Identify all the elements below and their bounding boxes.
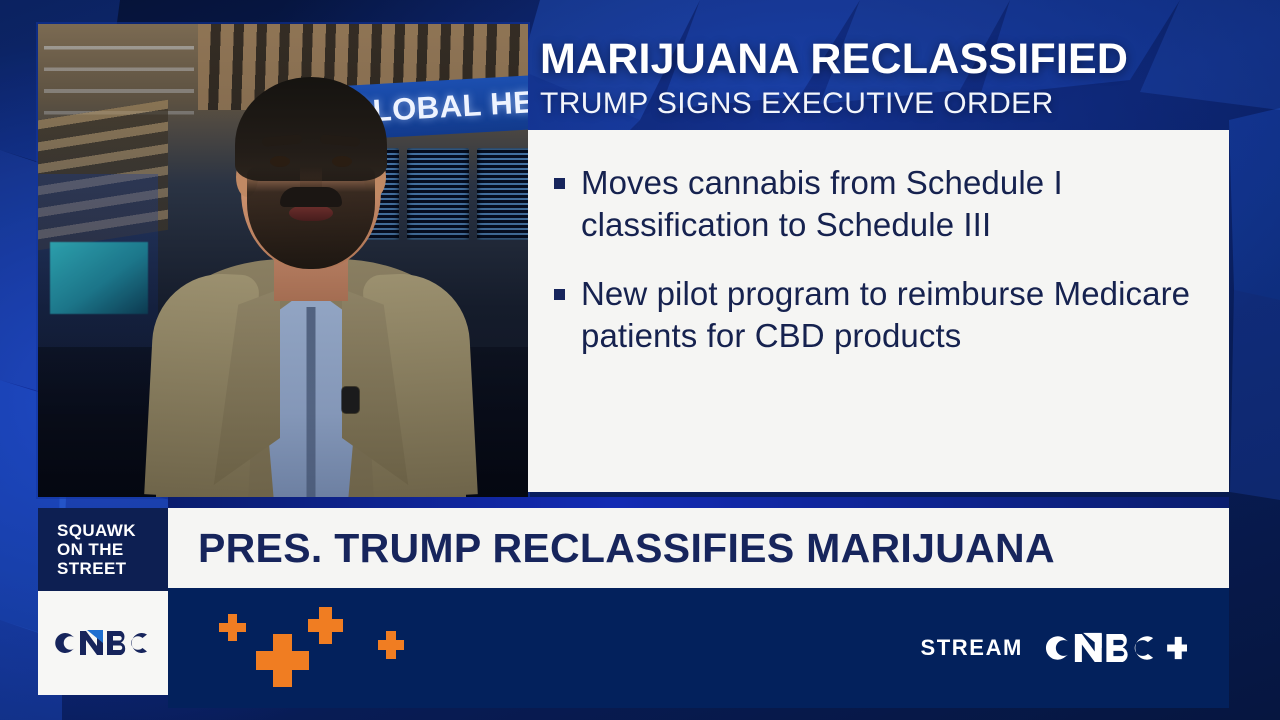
plus-icon-tiny xyxy=(219,614,246,641)
show-title-line-3: STREET xyxy=(57,559,168,578)
show-title-tag: SQUAWK ON THE STREET xyxy=(38,508,168,591)
show-title-line-2: ON THE xyxy=(57,540,168,559)
monitor-screen xyxy=(477,148,528,240)
list-item: Moves cannabis from Schedule I classific… xyxy=(554,162,1195,245)
reporter-mouth xyxy=(289,205,333,221)
plus-sign-icon xyxy=(1167,637,1187,659)
shirt-placket xyxy=(307,307,316,497)
headline-secondary: TRUMP SIGNS EXECUTIVE ORDER xyxy=(540,87,1240,121)
lower-third-headline: PRES. TRUMP RECLASSIFIES MARIJUANA xyxy=(168,525,1055,572)
lower-third-banner: PRES. TRUMP RECLASSIFIES MARIJUANA xyxy=(168,508,1229,588)
bullet-points-panel: Moves cannabis from Schedule I classific… xyxy=(528,130,1229,492)
cnbc-logo xyxy=(51,626,155,660)
plus-icon-medium xyxy=(308,607,343,644)
stream-promo-group[interactable]: STREAM xyxy=(921,627,1188,669)
headline-block: MARIJUANA RECLASSIFIED TRUMP SIGNS EXECU… xyxy=(540,38,1240,121)
lapel-microphone-icon xyxy=(342,387,359,413)
cnbc-plus-mark xyxy=(1041,627,1187,669)
plus-icon-large xyxy=(256,634,309,687)
broadcast-screen: GLOBAL HEA xyxy=(0,0,1280,720)
live-video-feed: GLOBAL HEA xyxy=(38,24,528,497)
headline-primary: MARIJUANA RECLASSIFIED xyxy=(540,38,1240,82)
on-air-reporter xyxy=(156,67,466,497)
network-logo-box xyxy=(38,591,168,695)
show-title-line-1: SQUAWK xyxy=(57,521,168,540)
reporter-moustache xyxy=(280,187,342,207)
stream-label: STREAM xyxy=(921,635,1024,661)
square-bullet-icon xyxy=(554,289,565,300)
list-item: New pilot program to reimburse Medicare … xyxy=(554,273,1195,356)
bullet-text: New pilot program to reimburse Medicare … xyxy=(581,273,1195,356)
plus-icon-small xyxy=(378,631,404,659)
square-bullet-icon xyxy=(554,178,565,189)
cnbc-plus-logo[interactable] xyxy=(1041,627,1187,669)
banner-top-stripe xyxy=(168,497,1229,508)
teal-display-screen xyxy=(50,242,148,314)
promo-bar: STREAM xyxy=(168,588,1229,708)
bullet-text: Moves cannabis from Schedule I classific… xyxy=(581,162,1195,245)
